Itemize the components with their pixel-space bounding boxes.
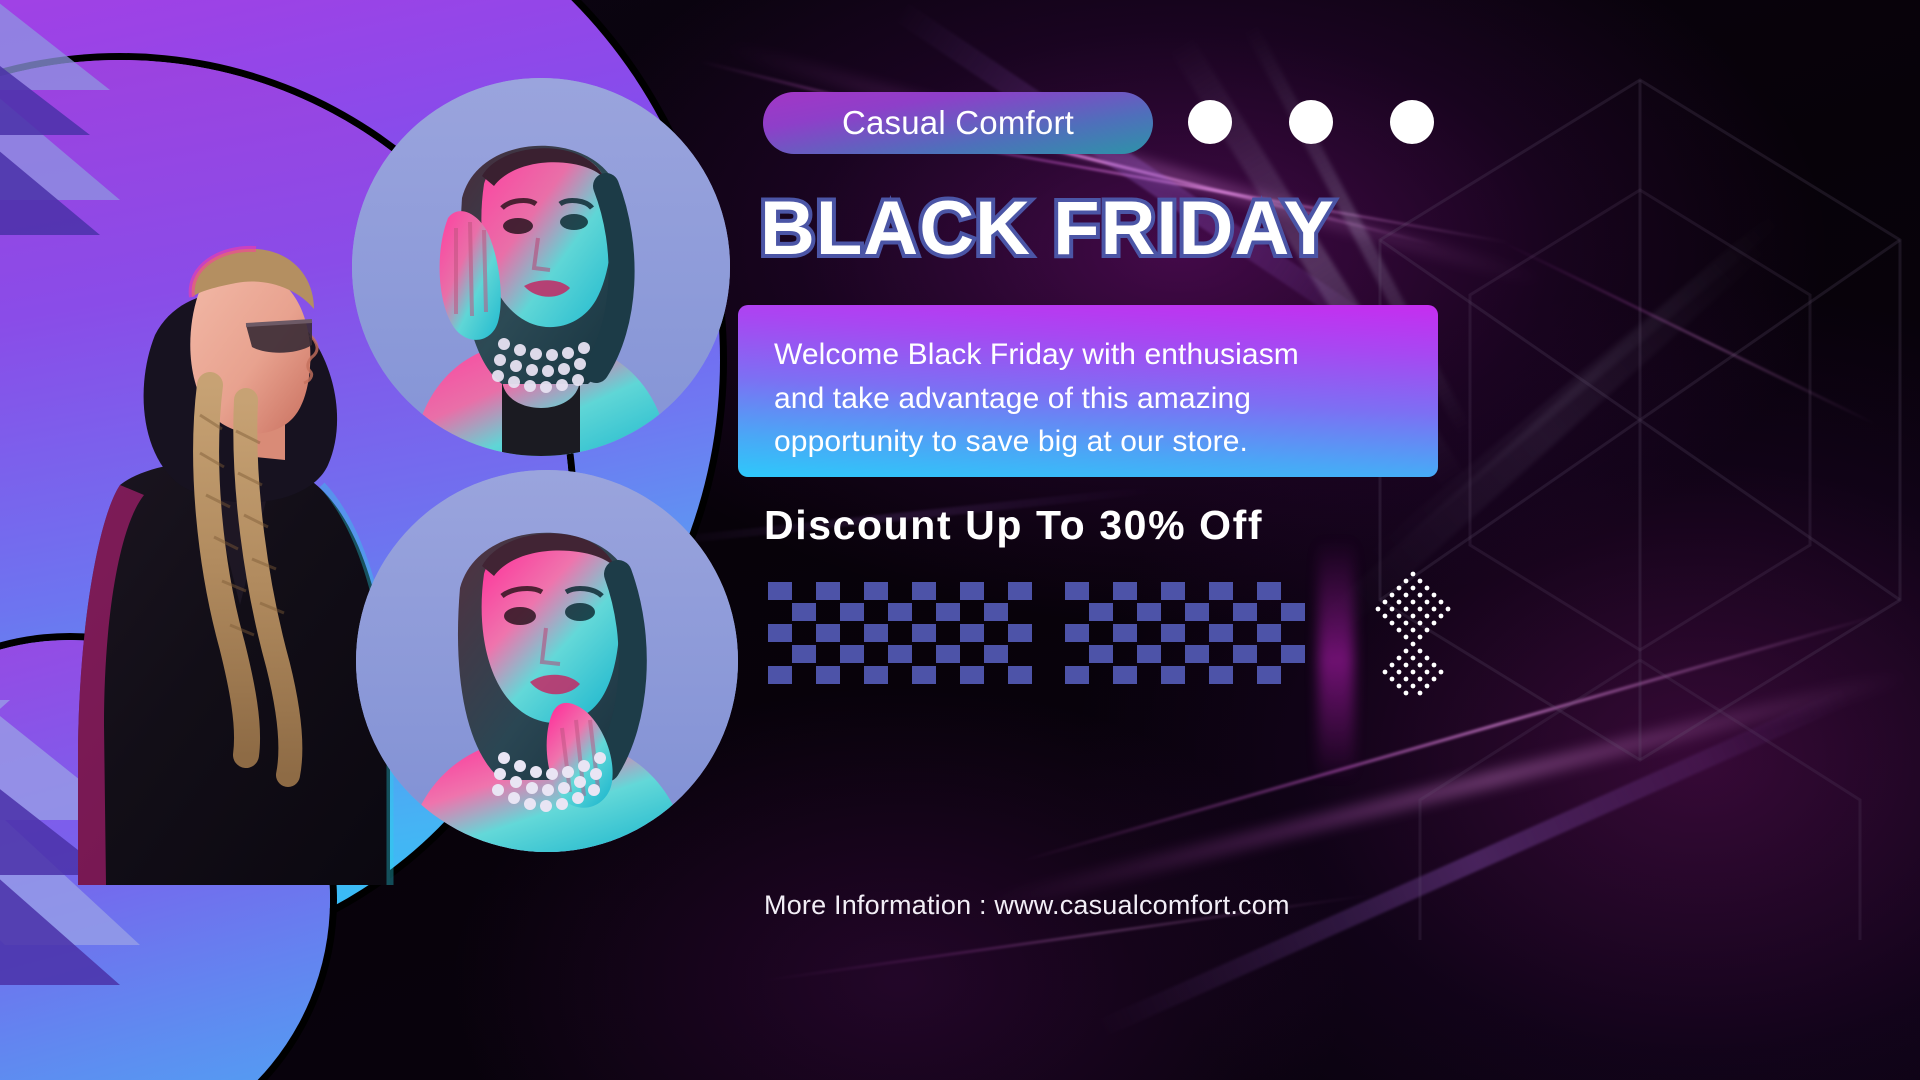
- model-photo-circle-top: [352, 78, 730, 456]
- brand-badge-label: Casual Comfort: [842, 104, 1074, 142]
- checker-pattern-decor: [1065, 582, 1321, 684]
- checker-pattern-decor: [768, 582, 1048, 684]
- more-information-text[interactable]: More Information : www.casualcomfort.com: [764, 890, 1290, 921]
- promo-description-box: Welcome Black Friday with enthusiasm and…: [738, 305, 1438, 477]
- promo-description-line: Welcome Black Friday with enthusiasm: [774, 333, 1402, 377]
- dotted-diamond-icon: [1370, 570, 1456, 700]
- black-friday-promo-banner: Casual Comfort BLACK FRIDAY Welcome Blac…: [0, 0, 1920, 1080]
- model-photo-circle-bottom: [356, 470, 738, 852]
- promo-description-line: and take advantage of this amazing: [774, 377, 1402, 421]
- discount-headline: Discount Up To 30% Off: [764, 502, 1464, 549]
- decorative-dots-group: [1188, 100, 1434, 144]
- decorative-dot-icon: [1289, 100, 1333, 144]
- promo-content-panel: Casual Comfort BLACK FRIDAY Welcome Blac…: [760, 0, 1920, 1080]
- decorative-dot-icon: [1188, 100, 1232, 144]
- brand-badge[interactable]: Casual Comfort: [763, 92, 1153, 154]
- decorative-dot-icon: [1390, 100, 1434, 144]
- page-title: BLACK FRIDAY: [760, 185, 1460, 272]
- promo-description-line: opportunity to save big at our store.: [774, 420, 1402, 464]
